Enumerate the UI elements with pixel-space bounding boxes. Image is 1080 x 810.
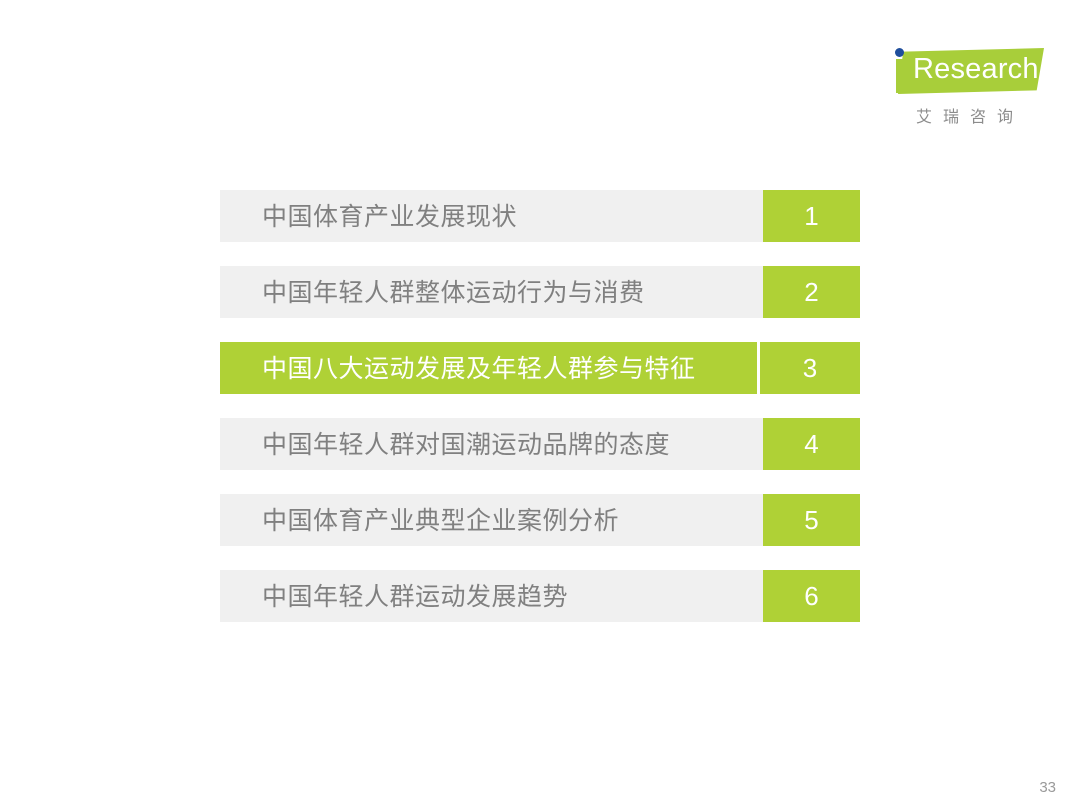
table-of-contents: 中国体育产业发展现状 1 中国年轻人群整体运动行为与消费 2 中国八大运动发展及… xyxy=(220,190,860,622)
toc-item-number: 6 xyxy=(763,570,860,622)
toc-row[interactable]: 中国体育产业典型企业案例分析 5 xyxy=(220,494,860,546)
toc-item-label: 中国八大运动发展及年轻人群参与特征 xyxy=(220,342,757,394)
toc-item-label: 中国年轻人群运动发展趋势 xyxy=(220,570,763,622)
toc-item-label: 中国年轻人群对国潮运动品牌的态度 xyxy=(220,418,763,470)
toc-row[interactable]: 中国体育产业发展现状 1 xyxy=(220,190,860,242)
logo-chinese-name: 艾瑞咨询 xyxy=(895,103,1045,127)
toc-item-label: 中国年轻人群整体运动行为与消费 xyxy=(220,266,763,318)
toc-item-number: 3 xyxy=(757,342,860,394)
toc-row[interactable]: 中国年轻人群整体运动行为与消费 2 xyxy=(220,266,860,318)
iresearch-logo: Research 艾瑞咨询 xyxy=(884,42,1044,124)
toc-row-active[interactable]: 中国八大运动发展及年轻人群参与特征 3 xyxy=(220,342,860,394)
toc-row[interactable]: 中国年轻人群对国潮运动品牌的态度 4 xyxy=(220,418,860,470)
logo-wordmark: Research xyxy=(913,53,1039,86)
slide-canvas: Research 艾瑞咨询 中国体育产业发展现状 1 中国年轻人群整体运动行为与… xyxy=(0,0,1080,810)
toc-item-number: 1 xyxy=(763,190,860,242)
logo-letter-i-dot-icon xyxy=(895,48,904,57)
toc-item-number: 4 xyxy=(763,418,860,470)
toc-item-number: 2 xyxy=(763,266,860,318)
page-number: 33 xyxy=(1039,779,1056,796)
logo-letter-i-stem xyxy=(896,59,903,93)
toc-item-label: 中国体育产业发展现状 xyxy=(220,190,763,242)
toc-item-number: 5 xyxy=(763,494,860,546)
toc-row[interactable]: 中国年轻人群运动发展趋势 6 xyxy=(220,570,860,622)
logo-mark: Research xyxy=(884,42,1044,98)
toc-item-label: 中国体育产业典型企业案例分析 xyxy=(220,494,763,546)
